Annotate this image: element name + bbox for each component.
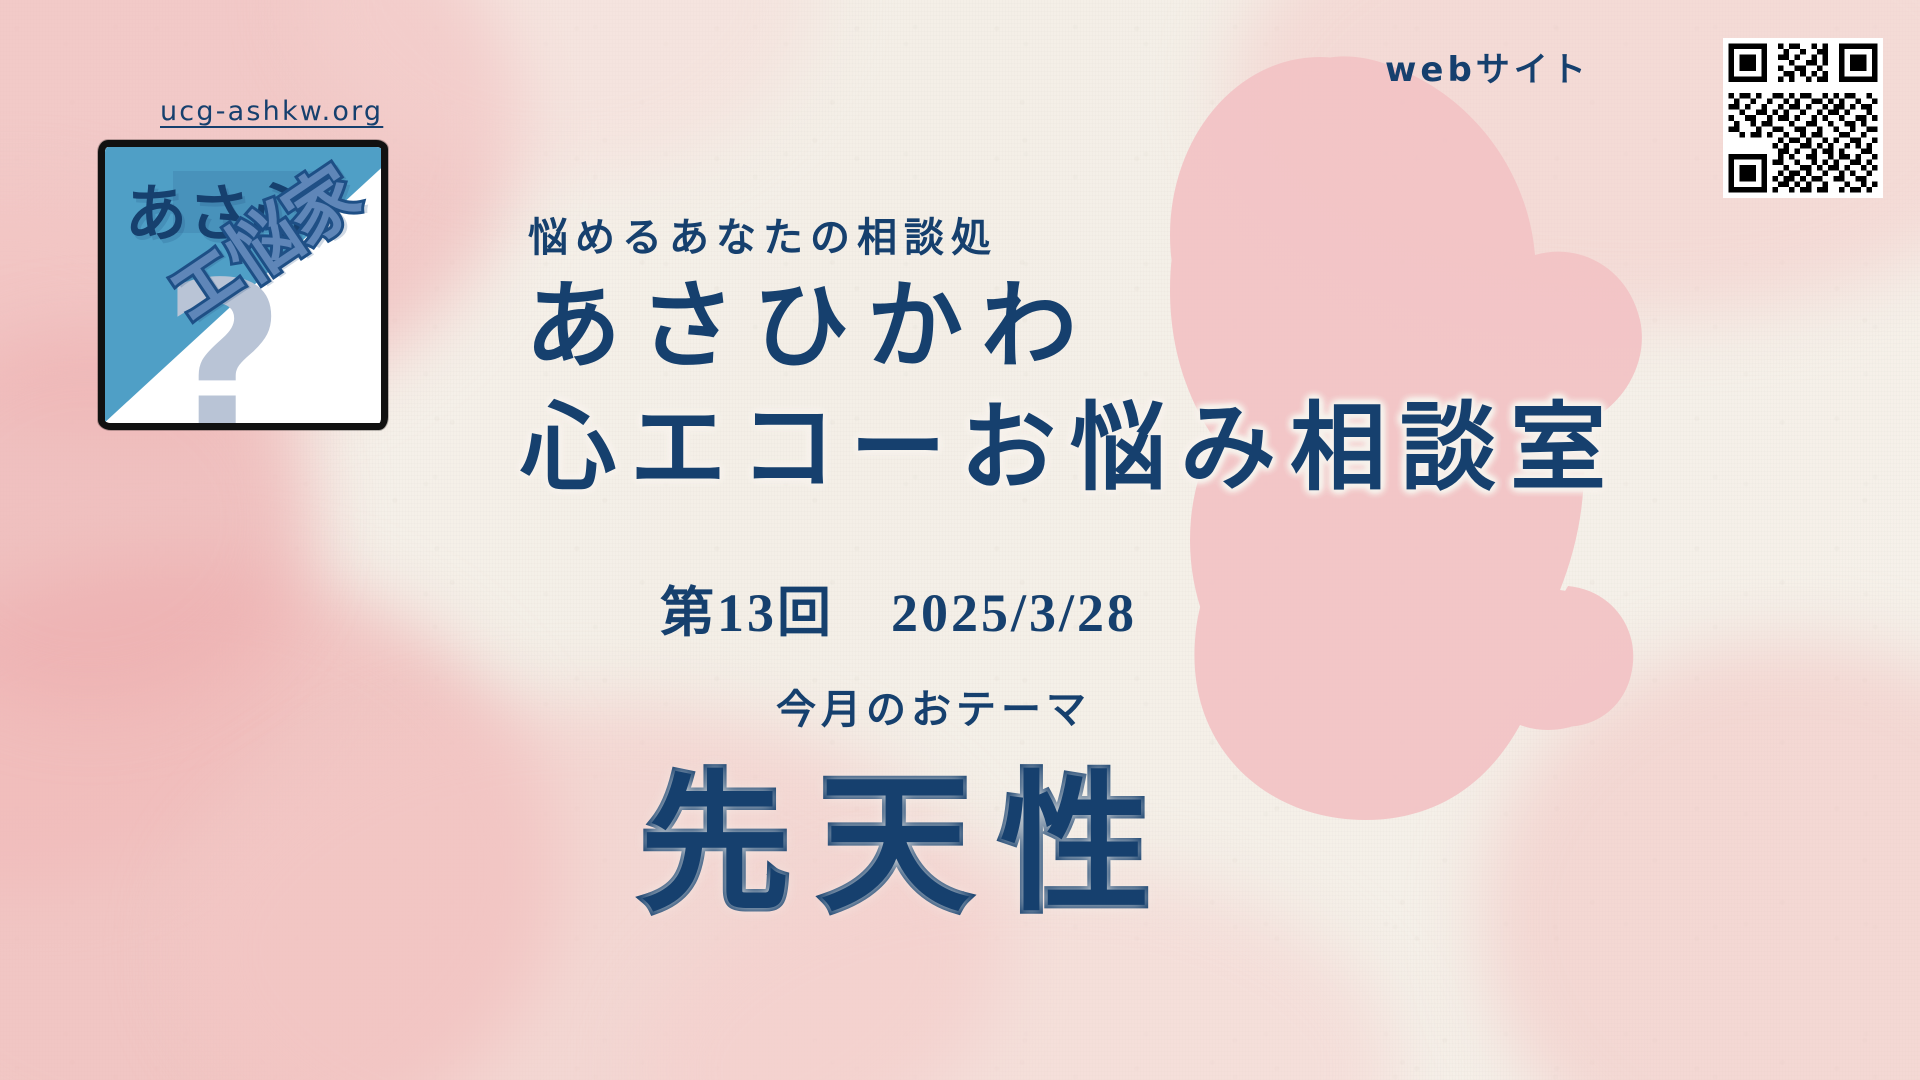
poster-canvas: ucg-ashkw.org ? あさ心 エ悩家 webサイト	[0, 0, 1920, 1080]
page-title-line2: 心エコーお悩み相談室	[520, 400, 1620, 496]
theme-label: 今月のおテーマ	[776, 677, 1091, 735]
kicker-text: 悩めるあなたの相談処	[528, 205, 998, 263]
website-url-text[interactable]: ucg-ashkw.org	[160, 96, 383, 127]
event-date-line: 第13回 2025/3/28	[660, 568, 1137, 647]
logo-artwork: ? あさ心 エ悩家	[105, 147, 381, 423]
web-site-label: webサイト	[1385, 42, 1590, 91]
organization-logo[interactable]: ? あさ心 エ悩家	[98, 140, 388, 430]
page-title-line1: あさひかわ	[525, 278, 1095, 374]
theme-word: 先天性	[640, 770, 1180, 920]
qr-code-icon	[1723, 38, 1883, 198]
qr-code[interactable]	[1723, 38, 1883, 198]
logo-frame: ? あさ心 エ悩家	[98, 140, 388, 430]
